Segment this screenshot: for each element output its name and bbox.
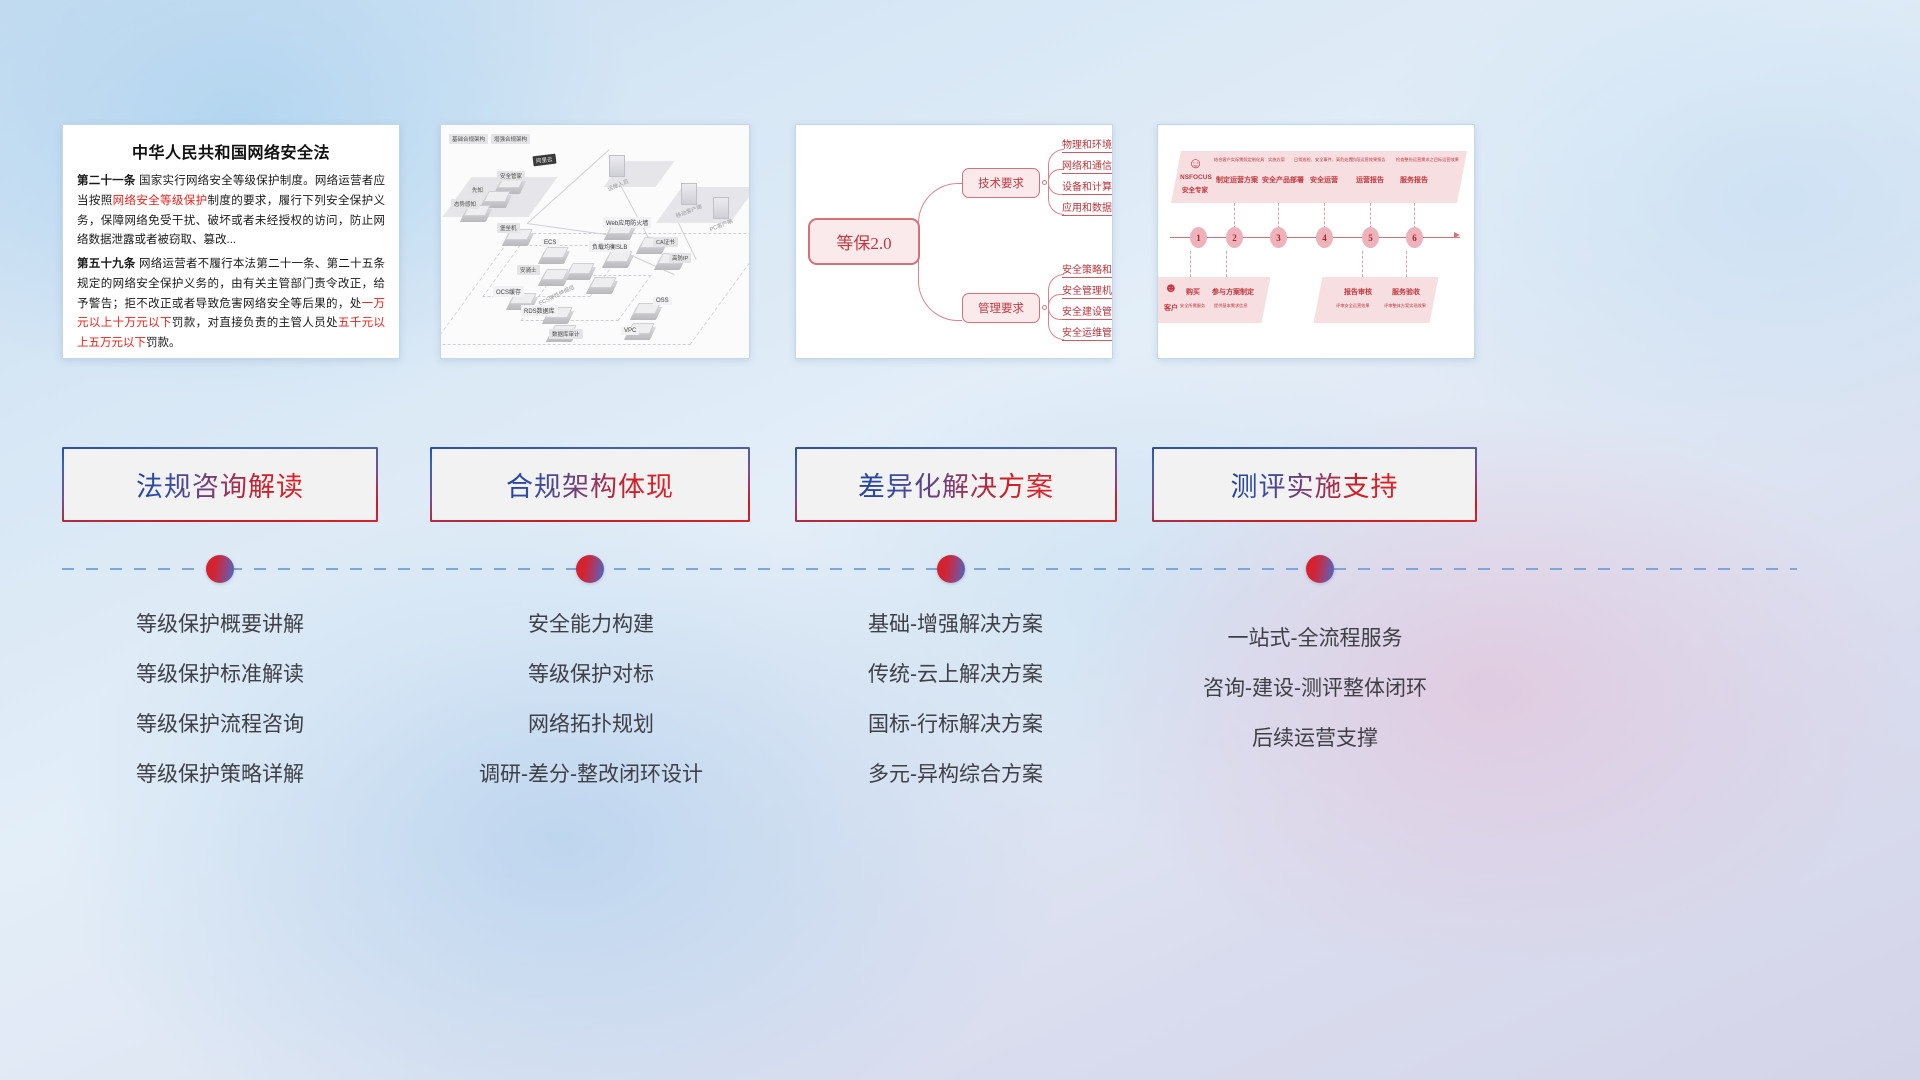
arch-label-situation: 态势感知: [451, 199, 479, 209]
mindmap-leaf-device-compute: 设备和计算安全: [1062, 178, 1113, 195]
mindmap-leaf-policy-system: 安全策略和管理制度: [1062, 261, 1113, 278]
top-step-1-sub: 结合客户实际需照定制化具: [1214, 157, 1264, 163]
timeline-marker-1[interactable]: [206, 555, 234, 583]
arch-label-xianzhi: 先知: [469, 185, 486, 195]
top-step-3-title: 安全运营: [1310, 175, 1338, 185]
bottom-step-1-title: 购买: [1186, 287, 1200, 297]
arch-label-db-audit: 数据库审计: [549, 329, 583, 339]
list-item: 调研-差分-整改闭环设计: [430, 750, 752, 800]
top-step-5-sub: 检查整份运营需求之目标运营效果: [1396, 157, 1459, 163]
pill-label-3: 差异化解决方案: [858, 465, 1054, 504]
arch-cloud-label: 阿里云: [532, 154, 556, 167]
arch-node-slb: [605, 251, 631, 268]
arch-label-bastion: 堡垒机: [497, 223, 520, 233]
mindmap-leaf-network-comm: 网络和通信安全: [1062, 157, 1113, 174]
law-article-21: 第二十一条 国家实行网络安全等级保护制度。网络运营者应当按照网络安全等级保护制度…: [77, 172, 385, 251]
top-step-3-sub: 日常巡检、安全事件、高危处置: [1294, 157, 1353, 163]
timeline-step-1[interactable]: 1: [1190, 227, 1207, 248]
list-item: 等级保护标准解读: [60, 650, 380, 700]
expert-label-line2: 安全专家: [1182, 184, 1208, 194]
mindmap-leaf-physical-env: 物理和环境安全: [1062, 136, 1113, 153]
card-compliance-architecture[interactable]: 基础合规架构 增强合规架构 阿里云: [440, 124, 750, 359]
card-nsfocus-service-timeline[interactable]: ☺ NSFOCUS 安全专家 结合客户实际需照定制化具 制定运营方案 实施方案 …: [1157, 124, 1475, 359]
nsfocus-bottom-band-right: [1314, 277, 1439, 323]
mindmap-dot-management: [1042, 305, 1047, 310]
nsfocus-timeline: ☺ NSFOCUS 安全专家 结合客户实际需照定制化具 制定运营方案 实施方案 …: [1158, 125, 1474, 358]
mindmap-leaf-build-mgmt: 安全建设管理: [1062, 303, 1113, 320]
top-step-4-sub: 阶段运营效果报告: [1352, 157, 1386, 163]
list-item: 等级保护流程咨询: [60, 700, 380, 750]
list-item: 一站式-全流程服务: [1150, 614, 1480, 664]
arch-node-anqishi: [541, 269, 567, 286]
bottom-step-1-sub: 安全所需服务: [1180, 303, 1205, 309]
card-mindmap-dengbao[interactable]: 等保2.0 技术要求 物理和环境安全 网络和通信安全 设备和计算安全 应用和数据…: [795, 124, 1113, 359]
top-step-2-title: 安全产品部署: [1262, 175, 1304, 185]
law-body: 中华人民共和国网络安全法 第二十一条 国家实行网络安全等级保护制度。网络运营者应…: [63, 125, 399, 359]
list-item: 基础-增强解决方案: [793, 600, 1118, 650]
arch-label-vpc: VPC: [621, 327, 639, 335]
list-item: 等级保护对标: [430, 650, 752, 700]
pill-label-2: 合规架构体现: [506, 465, 674, 504]
timeline-marker-3[interactable]: [937, 555, 965, 583]
list-item: 等级保护策略详解: [60, 750, 380, 800]
mindmap-root[interactable]: 等保2.0: [808, 218, 920, 265]
arch-node-oss: [633, 303, 659, 320]
law-article-59: 第五十九条 网络运营者不履行本法第二十一条、第二十五条规定的网络安全保护义务的，…: [77, 255, 385, 354]
pill-compliance-architecture[interactable]: 合规架构体现: [430, 447, 750, 522]
list-item: 传统-云上解决方案: [793, 650, 1118, 700]
expert-label-line1: NSFOCUS: [1180, 174, 1212, 181]
pill-regulation-consulting[interactable]: 法规咨询解读: [62, 447, 378, 522]
timeline-dashed-line: [62, 568, 1797, 570]
architecture-diagram: 基础合规架构 增强合规架构 阿里云: [441, 125, 749, 358]
list-item: 多元-异构综合方案: [793, 750, 1118, 800]
card-cybersecurity-law[interactable]: 中华人民共和国网络安全法 第二十一条 国家实行网络安全等级保护制度。网络运营者应…: [62, 124, 400, 359]
list-item: 安全能力构建: [430, 600, 752, 650]
article-21-highlight: 网络安全等级保护: [113, 195, 208, 207]
arch-label-ocs: OCS缓存: [493, 286, 524, 297]
timeline-connector: [0, 555, 1920, 595]
customer-icon: ☻: [1164, 280, 1178, 295]
article-59-label: 第五十九条: [77, 258, 136, 270]
bottom-step-2-title: 参与方案制定: [1212, 287, 1254, 297]
timeline-marker-4[interactable]: [1306, 555, 1334, 583]
arch-server-mobile: [681, 183, 697, 205]
customer-label: 客户: [1164, 303, 1178, 313]
arch-label-ecs: ECS: [541, 239, 559, 247]
timeline-step-2[interactable]: 2: [1226, 227, 1243, 248]
arch-label-rds: RDS数据库: [521, 305, 558, 316]
top-step-1-title: 制定运营方案: [1216, 175, 1258, 185]
pill-differentiated-solution[interactable]: 差异化解决方案: [795, 447, 1117, 522]
bottom-step-3-sub: 评审安全运营效果: [1336, 303, 1370, 309]
arch-server-pc: [713, 197, 729, 219]
bottom-step-4-title: 服务验收: [1392, 287, 1420, 297]
mindmap: 等保2.0 技术要求 物理和环境安全 网络和通信安全 设备和计算安全 应用和数据…: [796, 125, 1112, 358]
bottom-step-3-title: 报告审核: [1344, 287, 1372, 297]
top-step-5-title: 服务报告: [1400, 175, 1428, 185]
list-item: 后续运营支撑: [1150, 714, 1480, 764]
mindmap-branch-technical[interactable]: 技术要求: [962, 168, 1040, 198]
pill-assessment-support[interactable]: 测评实施支持: [1152, 447, 1477, 522]
pill-labels-row: 法规咨询解读 合规架构体现 差异化解决方案 测评实施支持: [0, 447, 1920, 522]
arch-tab-enhanced[interactable]: 增强合规架构: [491, 134, 530, 144]
arch-label-oss: OSS: [653, 297, 672, 305]
arch-tab-basic[interactable]: 基础合规架构: [449, 134, 488, 144]
mindmap-branch-management[interactable]: 管理要求: [962, 293, 1040, 323]
arch-node-ecs3: [589, 277, 615, 294]
list-item: 国标-行标解决方案: [793, 700, 1118, 750]
arch-label-anqishi: 安骑士: [517, 265, 540, 275]
list-item: 等级保护概要讲解: [60, 600, 380, 650]
pill-label-4: 测评实施支持: [1231, 465, 1399, 504]
list-item: 咨询-建设-测评整体闭环: [1150, 664, 1480, 714]
timeline-step-3[interactable]: 3: [1270, 227, 1287, 248]
timeline-marker-2[interactable]: [576, 555, 604, 583]
bottom-step-4-sub: 评审整体方案实现效果: [1384, 303, 1426, 309]
detail-columns: 等级保护概要讲解 等级保护标准解读 等级保护流程咨询 等级保护策略详解 安全能力…: [0, 600, 1920, 820]
article-59-text-c: 罚款。: [146, 337, 181, 349]
arch-node-ecs: [541, 247, 567, 264]
article-59-text-b: 罚款，对直接负责的主管人员处: [172, 317, 338, 329]
list-item: 网络拓扑规划: [430, 700, 752, 750]
expert-icon: ☺: [1188, 155, 1203, 172]
cards-row: 中华人民共和国网络安全法 第二十一条 国家实行网络安全等级保护制度。网络运营者应…: [0, 124, 1920, 364]
bottom-step-2-sub: 提供基本需求信息: [1214, 303, 1248, 309]
detail-column-4: 一站式-全流程服务 咨询-建设-测评整体闭环 后续运营支撑: [1150, 614, 1480, 764]
mindmap-leaf-app-data: 应用和数据安全: [1062, 199, 1113, 216]
timeline-arrow-icon: [1454, 232, 1460, 238]
detail-column-3: 基础-增强解决方案 传统-云上解决方案 国标-行标解决方案 多元-异构综合方案: [793, 600, 1118, 800]
law-title: 中华人民共和国网络安全法: [77, 139, 385, 163]
mindmap-leaf-org-personnel: 安全管理机构和人员: [1062, 282, 1113, 299]
detail-column-2: 安全能力构建 等级保护对标 网络拓扑规划 调研-差分-整改闭环设计: [430, 600, 752, 800]
arch-label-security-butler: 安全管家: [497, 171, 525, 181]
article-21-label: 第二十一条: [77, 175, 136, 187]
arch-label-slb: 负载均衡SLB: [589, 241, 630, 252]
timeline-step-4[interactable]: 4: [1316, 227, 1333, 248]
mindmap-dot-technical: [1042, 180, 1047, 185]
arch-label-gaofang-ip: 高防IP: [669, 253, 691, 263]
detail-column-1: 等级保护概要讲解 等级保护标准解读 等级保护流程咨询 等级保护策略详解: [60, 600, 380, 800]
top-step-4-title: 运营报告: [1356, 175, 1384, 185]
timeline-step-6[interactable]: 6: [1406, 227, 1423, 248]
top-step-2-sub: 实施方案: [1268, 157, 1285, 163]
timeline-step-5[interactable]: 5: [1362, 227, 1379, 248]
pill-label-1: 法规咨询解读: [136, 465, 304, 504]
arch-label-ca: CA证书: [653, 237, 678, 247]
mindmap-leaf-ops-mgmt: 安全运维管理: [1062, 324, 1113, 341]
arch-server-ops: [609, 155, 625, 177]
arch-label-waf: Web应用防火墙: [603, 217, 651, 228]
